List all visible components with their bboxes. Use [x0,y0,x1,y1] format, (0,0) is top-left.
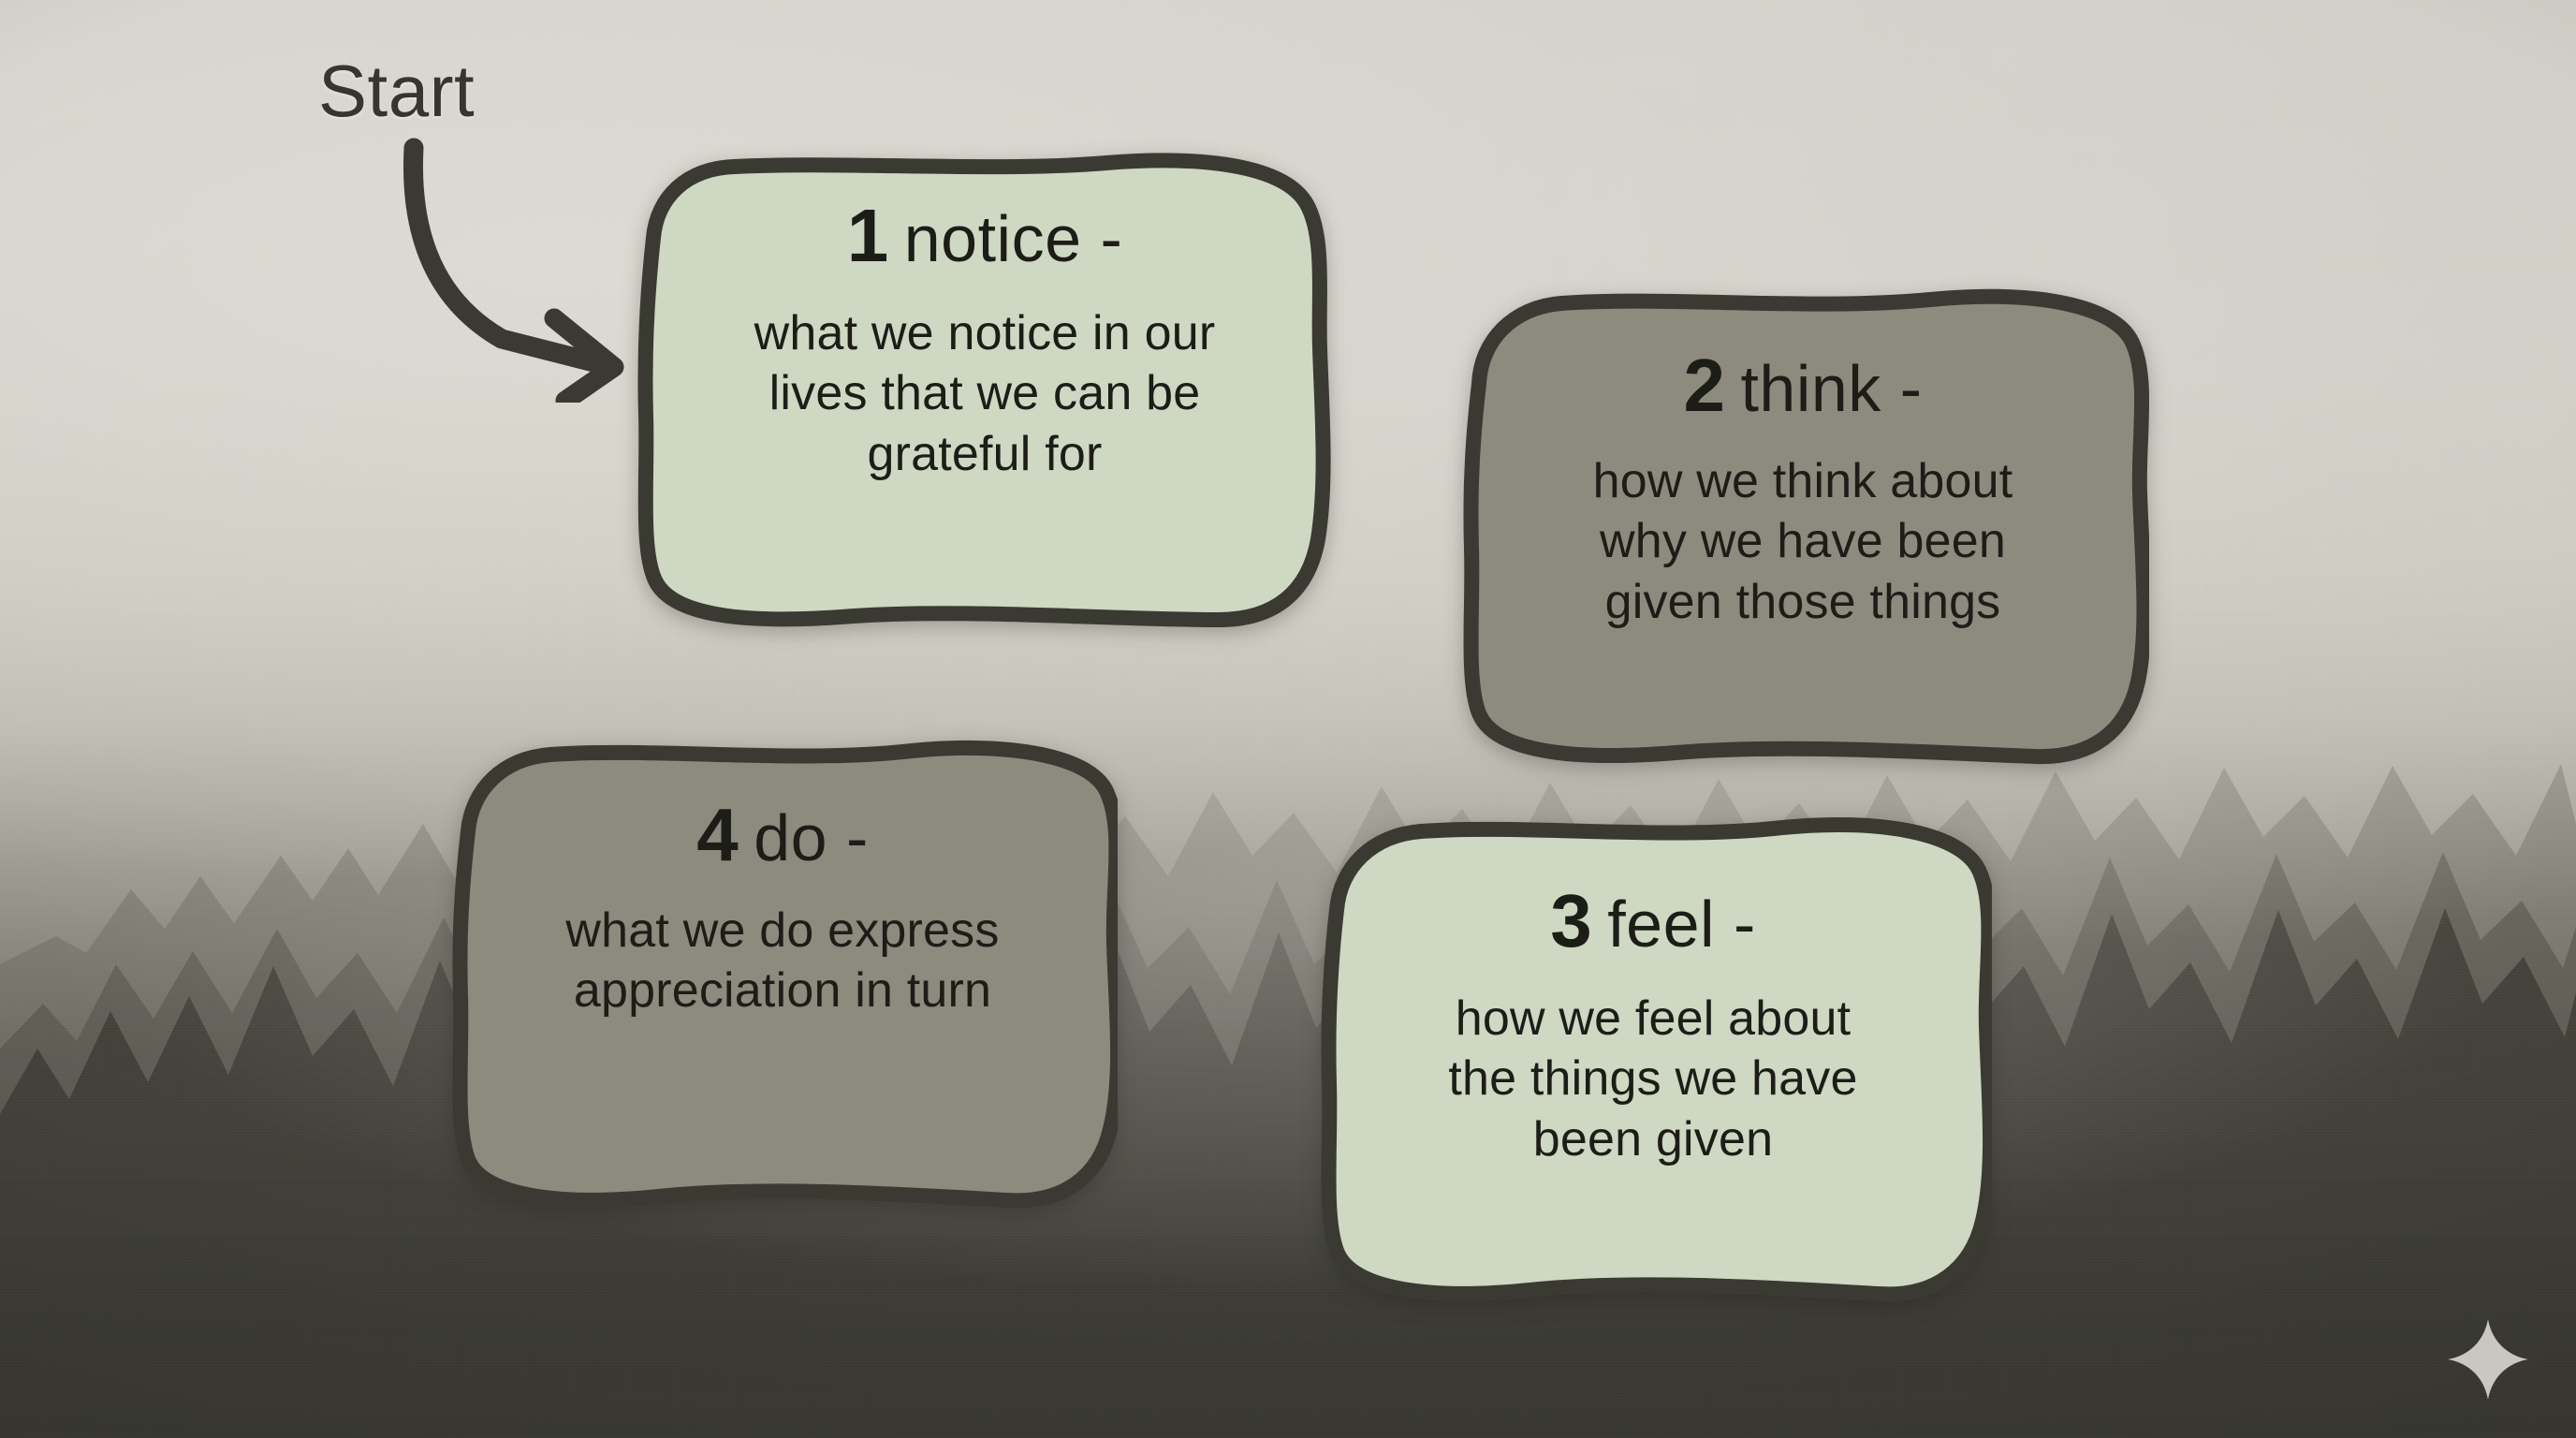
step-title-3: 3feel - [1314,882,1992,961]
step-number-4: 4 [696,793,739,876]
step-description-3: how we feel about the things we have bee… [1314,989,1992,1169]
step-keyword-3: feel - [1607,888,1756,961]
step-keyword-4: do - [754,801,869,874]
step-card-1[interactable]: 1notice - what we notice in our lives th… [629,148,1340,642]
step-title-1: 1notice - [629,197,1340,275]
step-number-3: 3 [1550,879,1592,962]
step-card-4[interactable]: 4do - what we do express appreciation in… [447,738,1118,1223]
step-keyword-2: think - [1740,352,1922,425]
step-card-2[interactable]: 2think - how we think about why we have … [1456,283,2149,783]
start-label: Start [318,54,475,127]
step-title-2: 2think - [1456,346,2149,425]
step-title-4: 4do - [447,796,1118,874]
step-number-1: 1 [847,194,889,277]
sparkle-icon [2445,1316,2531,1402]
step-keyword-1: notice - [904,202,1123,275]
diagram-canvas: Start 1notice - what we notice in our li… [0,0,2576,1438]
step-description-2: how we think about why we have been give… [1456,451,2149,632]
step-description-1: what we notice in our lives that we can … [629,303,1340,484]
step-number-2: 2 [1683,344,1725,427]
step-card-3[interactable]: 3feel - how we feel about the things we … [1314,813,1992,1326]
step-description-4: what we do express appreciation in turn [447,901,1118,1021]
